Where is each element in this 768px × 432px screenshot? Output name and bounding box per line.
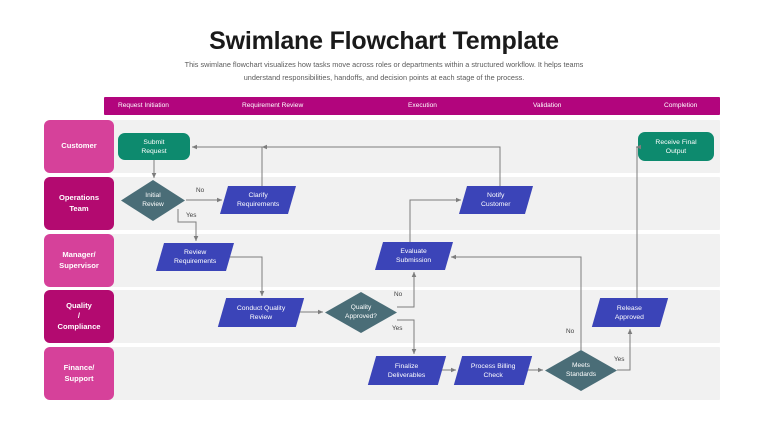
phase-label-2: Execution (408, 97, 437, 115)
edge-label-no-4: No (566, 328, 574, 335)
lane-label-0[interactable]: Customer (44, 120, 114, 173)
phase-label-4: Completion (664, 97, 697, 115)
page-subtitle: This swimlane flowchart visualizes how t… (168, 59, 600, 84)
edge-label-no-2: No (394, 291, 402, 298)
node-label: QualityApproved? (325, 292, 397, 333)
node-quality_approved[interactable]: QualityApproved? (325, 292, 397, 333)
node-release_approved[interactable]: ReleaseApproved (592, 298, 668, 327)
phase-label-1: Requirement Review (242, 97, 303, 115)
node-notify_customer[interactable]: NotifyCustomer (459, 186, 533, 214)
lane-label-4[interactable]: Finance/Support (44, 347, 114, 400)
lane-band-0 (104, 120, 720, 173)
node-finalize_deliv[interactable]: FinalizeDeliverables (368, 356, 446, 385)
node-submit_request[interactable]: SubmitRequest (118, 133, 190, 160)
edge-label-yes-3: Yes (392, 325, 402, 332)
node-initial_review[interactable]: InitialReview (121, 180, 185, 221)
phase-label-3: Validation (533, 97, 561, 115)
node-label: MeetsStandards (545, 350, 617, 391)
phase-header-bar: Request InitiationRequirement ReviewExec… (104, 97, 720, 115)
edge-label-yes-1: Yes (186, 212, 196, 219)
node-label: SubmitRequest (141, 138, 166, 156)
phase-label-0: Request Initiation (118, 97, 169, 115)
lane-label-2[interactable]: Manager/Supervisor (44, 234, 114, 287)
node-label: InitialReview (121, 180, 185, 221)
edge-label-yes-5: Yes (614, 356, 624, 363)
node-conduct_quality[interactable]: Conduct QualityReview (218, 298, 304, 327)
node-label: Receive FinalOutput (655, 138, 696, 156)
node-label: ClarifyRequirements (237, 191, 279, 209)
node-label: EvaluateSubmission (396, 247, 431, 265)
node-meets_standards[interactable]: MeetsStandards (545, 350, 617, 391)
node-label: NotifyCustomer (481, 191, 510, 209)
node-receive_output[interactable]: Receive FinalOutput (638, 132, 714, 161)
node-evaluate_sub[interactable]: EvaluateSubmission (375, 242, 453, 270)
node-label: ReviewRequirements (174, 248, 216, 266)
page-title: Swimlane Flowchart Template (0, 27, 768, 56)
node-label: FinalizeDeliverables (388, 362, 425, 380)
edge-label-no-0: No (196, 187, 204, 194)
slide-canvas: Swimlane Flowchart Template This swimlan… (0, 0, 768, 432)
node-label: ReleaseApproved (615, 304, 644, 322)
node-label: Conduct QualityReview (237, 304, 285, 322)
lane-label-3[interactable]: Quality/Compliance (44, 290, 114, 343)
lane-label-1[interactable]: OperationsTeam (44, 177, 114, 230)
lane-band-1 (104, 177, 720, 230)
node-label: Process BillingCheck (471, 362, 516, 380)
node-process_billing[interactable]: Process BillingCheck (454, 356, 532, 385)
node-clarify_req[interactable]: ClarifyRequirements (220, 186, 296, 214)
node-review_req[interactable]: ReviewRequirements (156, 243, 234, 271)
